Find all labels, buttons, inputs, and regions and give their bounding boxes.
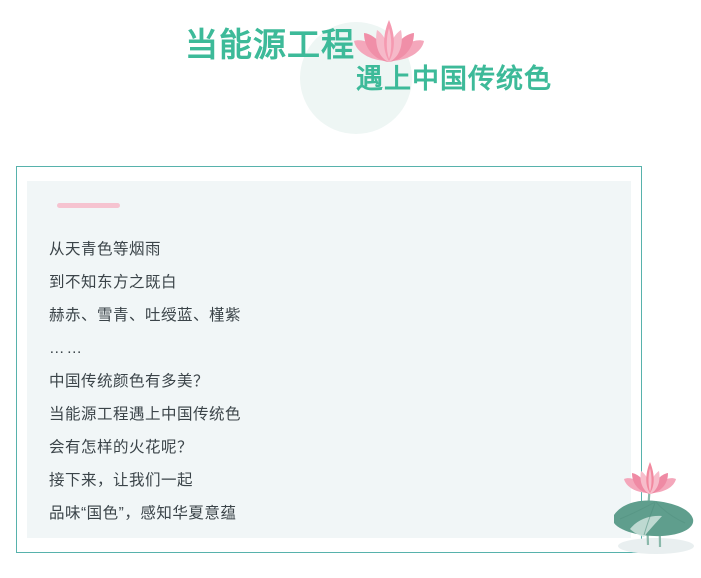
poem-line: 到不知东方之既白 (49, 266, 617, 299)
pink-divider (57, 203, 120, 208)
poem-line: 中国传统颜色有多美？ (49, 365, 617, 398)
page-title-line-2: 遇上中国传统色 (356, 62, 552, 96)
poem-line: 当能源工程遇上中国传统色 (49, 398, 617, 431)
poem-line: 从天青色等烟雨 (49, 233, 617, 266)
page-title-line-1: 当能源工程 (185, 25, 355, 65)
poem-line: 品味“国色”，感知华夏意蕴 (49, 497, 617, 530)
poem-text-block: 从天青色等烟雨 到不知东方之既白 赫赤、雪青、吐绶蓝、槿紫 …… 中国传统颜色有… (49, 233, 617, 530)
content-card-inner: 从天青色等烟雨 到不知东方之既白 赫赤、雪青、吐绶蓝、槿紫 …… 中国传统颜色有… (27, 181, 631, 538)
poem-line: 会有怎样的火花呢？ (49, 431, 617, 464)
poem-line-ellipsis: …… (49, 332, 617, 365)
content-card: 从天青色等烟雨 到不知东方之既白 赫赤、雪青、吐绶蓝、槿紫 …… 中国传统颜色有… (16, 166, 642, 553)
header-banner: 当能源工程 遇上中国传统色 (0, 0, 701, 150)
lotus-plant-icon (600, 445, 701, 560)
lotus-flower-icon (352, 14, 426, 66)
poem-line: 接下来，让我们一起 (49, 464, 617, 497)
poem-line: 赫赤、雪青、吐绶蓝、槿紫 (49, 299, 617, 332)
